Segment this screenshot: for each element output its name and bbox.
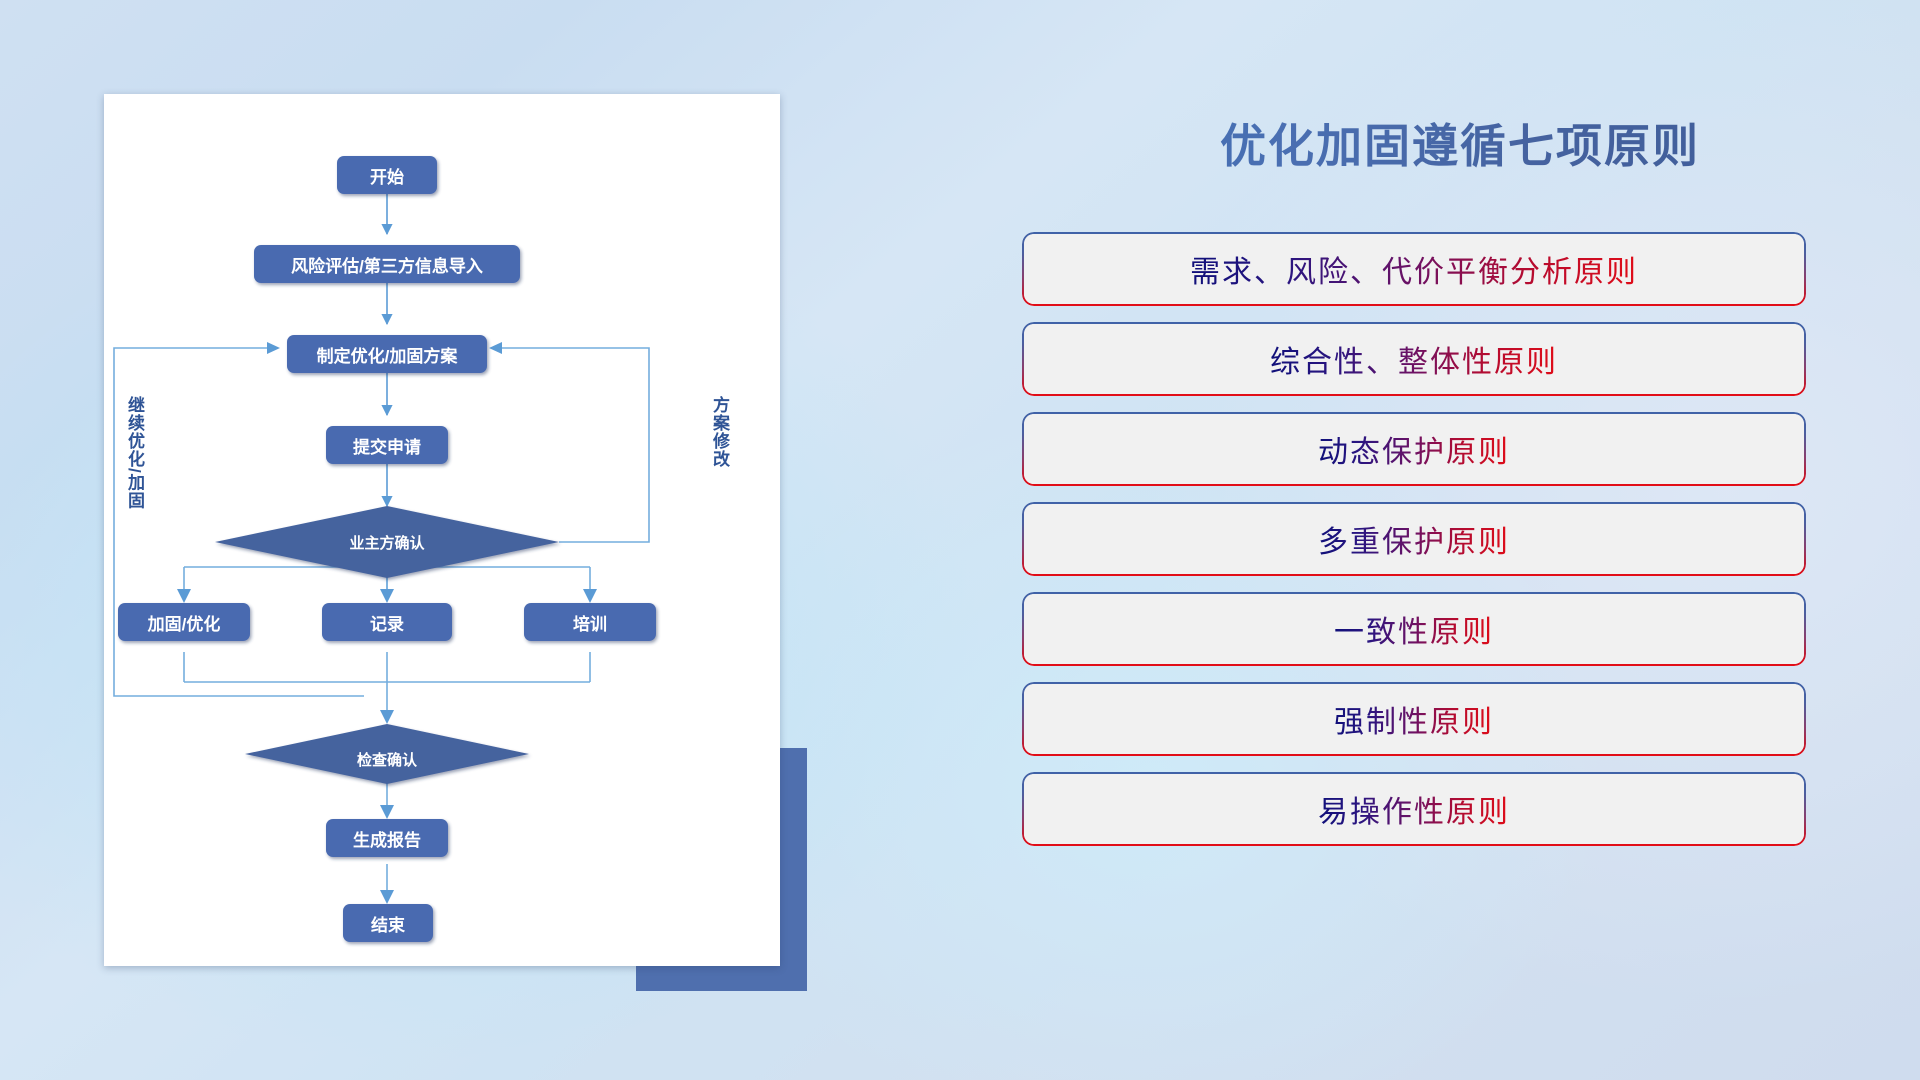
principle-card-inner: 一致性原则 [1024, 594, 1804, 664]
principle-card-4[interactable]: 多重保护原则 [1022, 502, 1806, 576]
flow-edge-label-plan-revision: 方案修改 [707, 396, 732, 468]
principle-label: 易操作性原则 [1318, 787, 1510, 831]
principle-card-7[interactable]: 易操作性原则 [1022, 772, 1806, 846]
page-title: 优化加固遵循七项原则 [1020, 110, 1900, 176]
principles-panel: 优化加固遵循七项原则 需求、风险、代价平衡分析原则 综合性、整体性原则 动态保护… [1020, 0, 1920, 1080]
principle-label: 强制性原则 [1334, 697, 1494, 741]
principle-label: 综合性、整体性原则 [1270, 337, 1558, 381]
principle-label: 需求、风险、代价平衡分析原则 [1190, 247, 1638, 291]
principle-card-2[interactable]: 综合性、整体性原则 [1022, 322, 1806, 396]
principles-list: 需求、风险、代价平衡分析原则 综合性、整体性原则 动态保护原则 多重保护原则 一… [1022, 232, 1822, 862]
principle-card-inner: 综合性、整体性原则 [1024, 324, 1804, 394]
principle-card-6[interactable]: 强制性原则 [1022, 682, 1806, 756]
principle-card-inner: 多重保护原则 [1024, 504, 1804, 574]
flowchart-graphics [104, 94, 780, 966]
principle-card-1[interactable]: 需求、风险、代价平衡分析原则 [1022, 232, 1806, 306]
principle-card-inner: 易操作性原则 [1024, 774, 1804, 844]
principle-label: 一致性原则 [1334, 607, 1494, 651]
principle-card-5[interactable]: 一致性原则 [1022, 592, 1806, 666]
flow-edge-label-continue-optimize: 继续优化/加固 [122, 396, 147, 510]
principle-card-inner: 强制性原则 [1024, 684, 1804, 754]
principle-label: 动态保护原则 [1318, 427, 1510, 471]
flowchart-panel: 开始 风险评估/第三方信息导入 制定优化/加固方案 提交申请 业主方确认 加固/… [0, 0, 820, 1080]
principle-card-3[interactable]: 动态保护原则 [1022, 412, 1806, 486]
principle-label: 多重保护原则 [1318, 517, 1510, 561]
principle-card-inner: 需求、风险、代价平衡分析原则 [1024, 234, 1804, 304]
principle-card-inner: 动态保护原则 [1024, 414, 1804, 484]
